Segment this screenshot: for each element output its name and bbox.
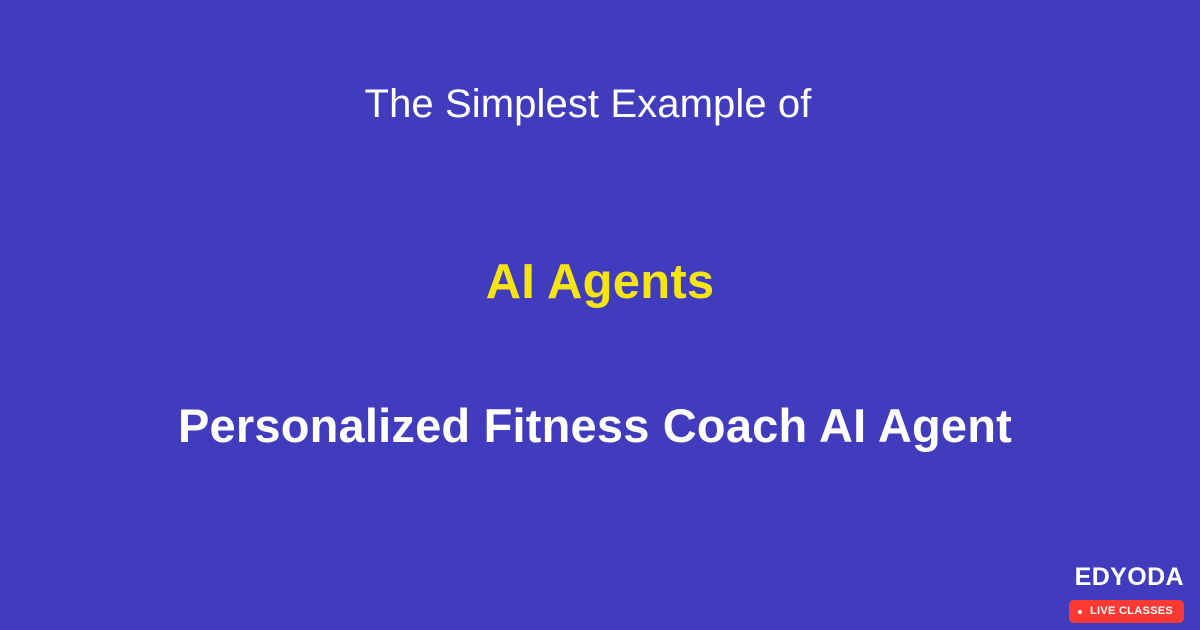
live-dot-icon — [1078, 610, 1082, 614]
title-slide: The Simplest Example of AI Agents Person… — [0, 0, 1200, 630]
headline-stack: The Simplest Example of AI Agents Person… — [0, 0, 1200, 630]
brand-lockup: EDYODA LIVE CLASSES — [1069, 565, 1184, 623]
live-classes-badge-label: LIVE CLASSES — [1090, 606, 1173, 617]
edyoda-logo-wordmark: EDYODA — [1075, 565, 1184, 590]
lead-in-text: The Simplest Example of — [0, 84, 1188, 124]
live-classes-badge: LIVE CLASSES — [1069, 600, 1184, 623]
subject-heading: Personalized Fitness Coach AI Agent — [0, 402, 1195, 449]
topic-heading: AI Agents — [0, 258, 1200, 307]
